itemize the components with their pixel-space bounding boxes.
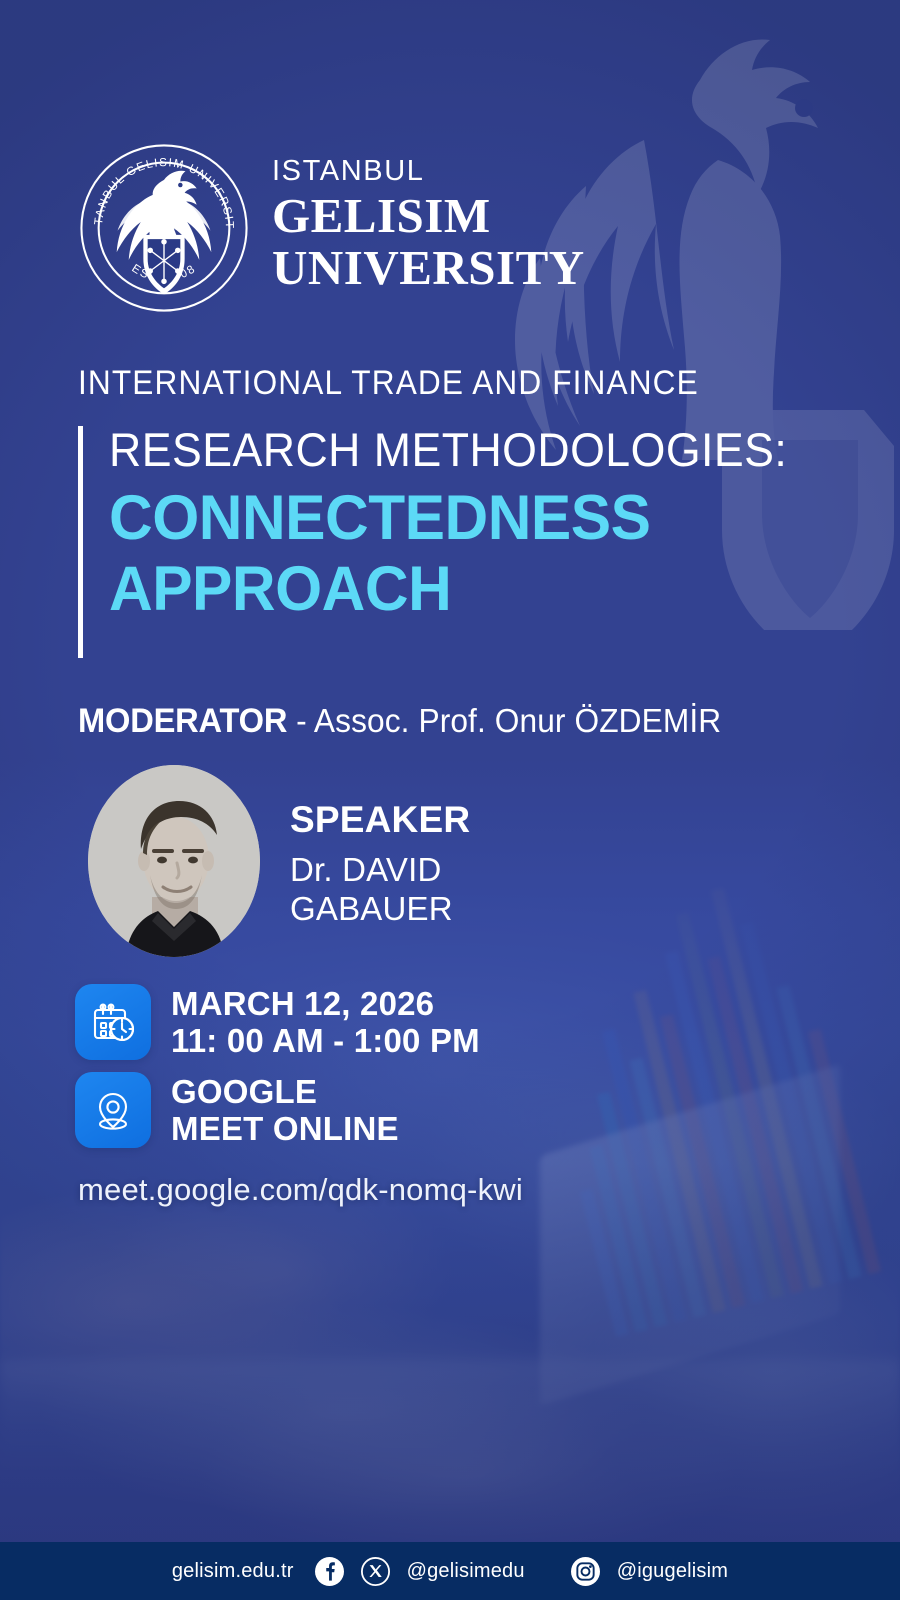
event-date: MARCH 12, 2026 [171, 985, 480, 1022]
instagram-icon[interactable] [571, 1557, 600, 1586]
program-kicker: INTERNATIONAL TRADE AND FINANCE [78, 364, 699, 403]
instagram-handle[interactable]: @igugelisim [617, 1560, 728, 1583]
event-date-row: MARCH 12, 2026 11: 00 AM - 1:00 PM [75, 984, 480, 1060]
eagle-shield-seal-icon: ISTANBUL GELISIM UNIVERSITY EST. 2008 [78, 142, 250, 314]
title-line-1: RESEARCH METHODOLOGIES: [109, 424, 787, 477]
speaker-name-line-2: GABAUER [290, 890, 470, 929]
event-location-line-2: MEET ONLINE [171, 1110, 399, 1147]
title-line-2: CONNECTEDNESS [109, 483, 794, 555]
title-accent-bar [78, 426, 83, 658]
event-time: 11: 00 AM - 1:00 PM [171, 1022, 480, 1059]
moderator-name: - Assoc. Prof. Onur ÖZDEMİR [287, 702, 721, 739]
speaker-block: SPEAKER Dr. DAVID GABAUER [88, 765, 470, 957]
speaker-name-line-1: Dr. DAVID [290, 851, 470, 890]
event-poster: ISTANBUL GELISIM UNIVERSITY EST. 2008 [0, 0, 900, 1600]
title-line-3: APPROACH [109, 554, 794, 626]
event-location-row: GOOGLE MEET ONLINE [75, 1072, 480, 1148]
speaker-avatar [88, 765, 260, 957]
logo-line-gelisim: GELISIM [272, 190, 585, 242]
moderator-line: MODERATOR - Assoc. Prof. Onur ÖZDEMİR [78, 702, 721, 741]
facebook-icon[interactable] [315, 1557, 344, 1586]
meeting-url[interactable]: meet.google.com/qdk-nomq-kwi [78, 1172, 523, 1208]
calendar-clock-icon [75, 984, 151, 1060]
event-location-line-1: GOOGLE [171, 1073, 399, 1110]
x-twitter-icon[interactable] [361, 1557, 390, 1586]
footer-website[interactable]: gelisim.edu.tr [172, 1560, 294, 1583]
logo-line-university: UNIVERSITY [272, 242, 585, 294]
footer-bar: gelisim.edu.tr @gelisimedu @igugelisim [0, 1542, 900, 1600]
speaker-label: SPEAKER [290, 801, 470, 838]
title-block: RESEARCH METHODOLOGIES: CONNECTEDNESS AP… [78, 424, 838, 658]
x-handle[interactable]: @gelisimedu [407, 1560, 525, 1583]
map-pin-icon [75, 1072, 151, 1148]
university-logo: ISTANBUL GELISIM UNIVERSITY EST. 2008 [78, 142, 585, 314]
event-details: MARCH 12, 2026 11: 00 AM - 1:00 PM GOOGL… [75, 984, 480, 1160]
logo-line-istanbul: ISTANBUL [272, 157, 585, 186]
moderator-label: MODERATOR [78, 702, 287, 740]
